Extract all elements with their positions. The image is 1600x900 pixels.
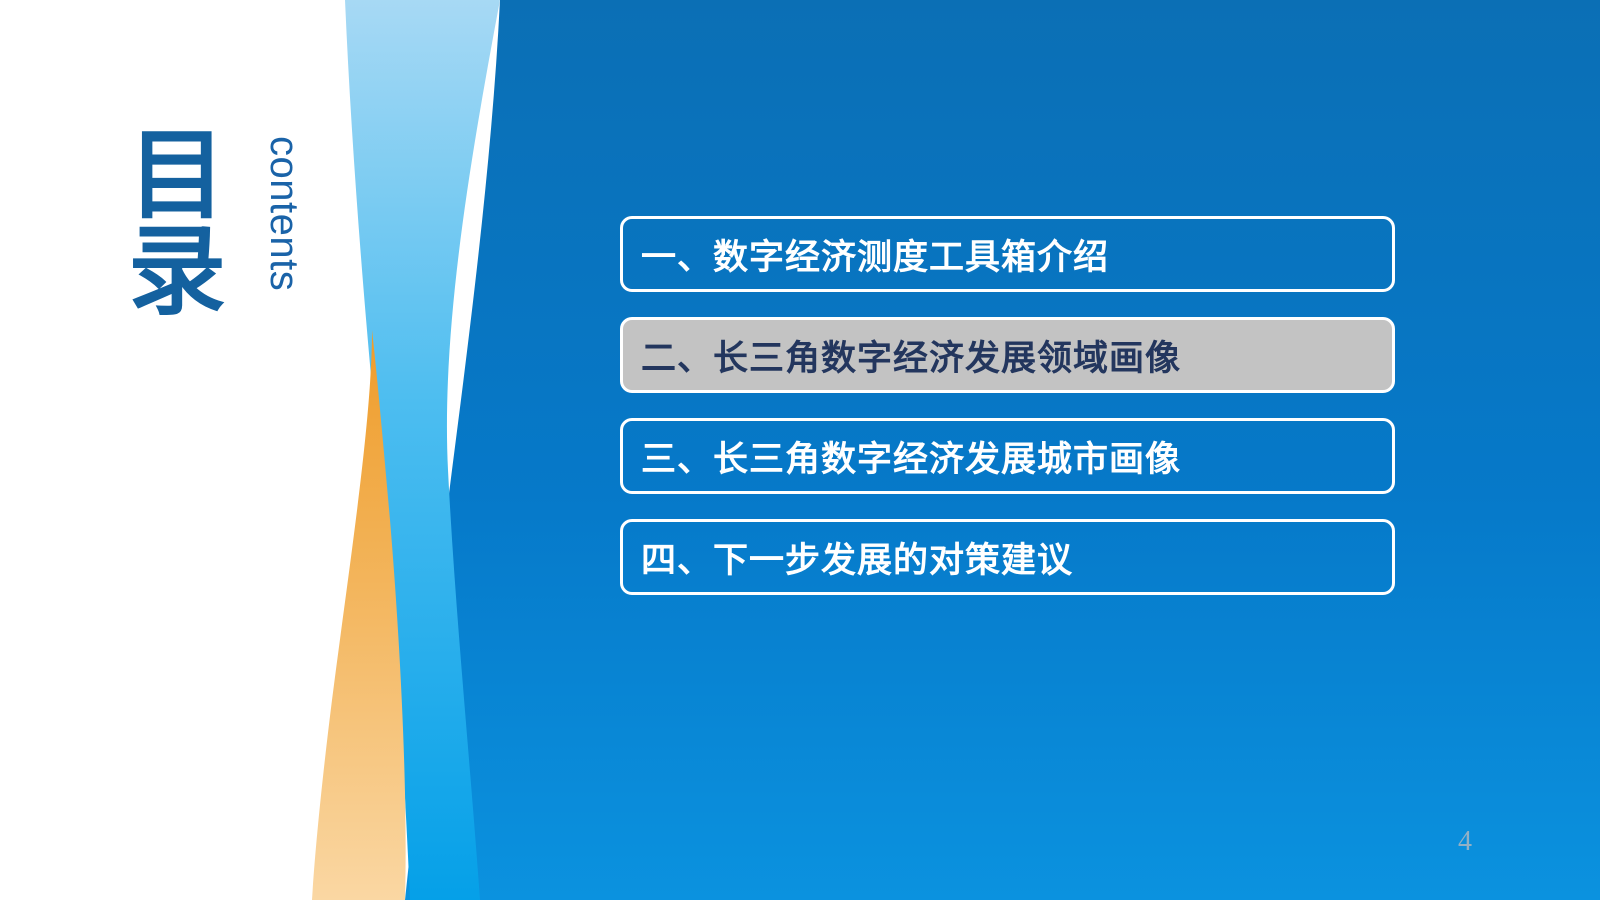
slide: 目录 contents 一、数字经济测度工具箱介绍 二、长三角数字经济发展领域画… (0, 0, 1600, 900)
contents-item-label: 四、下一步发展的对策建议 (623, 532, 1073, 583)
contents-list: 一、数字经济测度工具箱介绍 二、长三角数字经济发展领域画像 三、长三角数字经济发… (620, 216, 1395, 620)
contents-item-4[interactable]: 四、下一步发展的对策建议 (620, 519, 1395, 595)
contents-item-label: 一、数字经济测度工具箱介绍 (623, 229, 1109, 280)
page-title-en-wrapper: contents (260, 136, 316, 326)
contents-item-3[interactable]: 三、长三角数字经济发展城市画像 (620, 418, 1395, 494)
contents-item-label: 二、长三角数字经济发展领域画像 (623, 330, 1181, 381)
page-number: 4 (1458, 826, 1472, 858)
contents-item-2[interactable]: 二、长三角数字经济发展领域画像 (620, 317, 1395, 393)
page-title-en: contents (261, 136, 306, 291)
contents-item-label: 三、长三角数字经济发展城市画像 (623, 431, 1181, 482)
page-title-cn: 目录 (128, 128, 248, 320)
contents-item-1[interactable]: 一、数字经济测度工具箱介绍 (620, 216, 1395, 292)
page-title: 目录 contents (110, 128, 340, 348)
